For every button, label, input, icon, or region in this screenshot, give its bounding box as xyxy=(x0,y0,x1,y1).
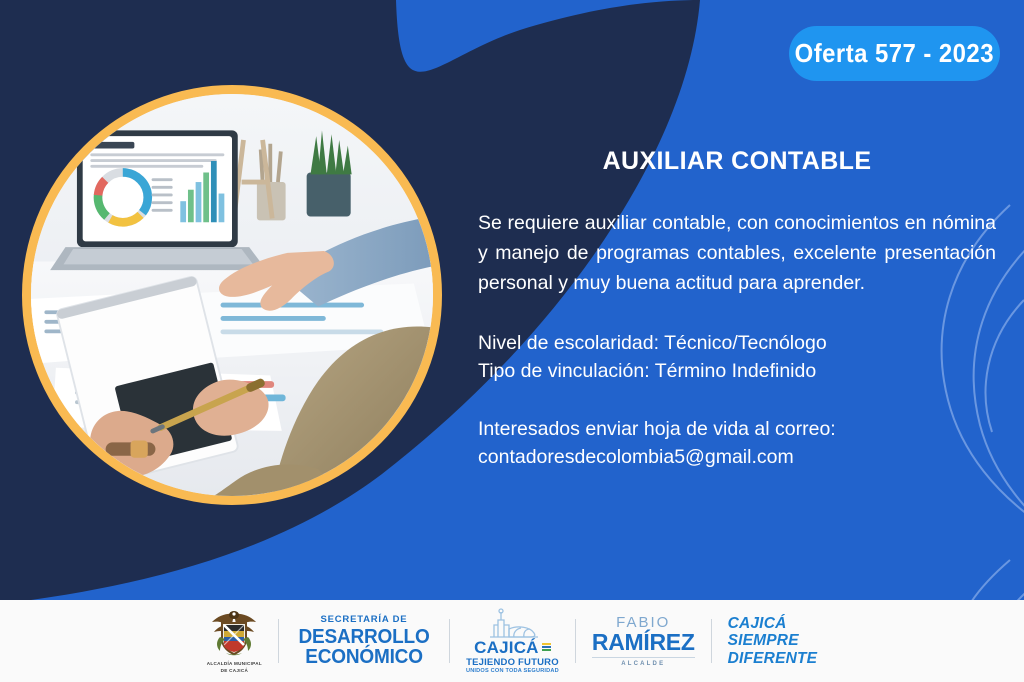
offer-badge-label: Oferta 577 - 2023 xyxy=(795,38,994,69)
municipal-crest-logo: ALCALDÍA MUNICIPAL DE CAJICÁ xyxy=(207,607,262,675)
slogan-line2: SIEMPRE xyxy=(728,632,818,649)
tejiendo-tagline: TEJIENDO FUTURO xyxy=(466,658,559,668)
footer-logo-bar: ALCALDÍA MUNICIPAL DE CAJICÁ SECRETARÍA … xyxy=(0,600,1024,682)
contact-instruction: Interesados enviar hoja de vida al corre… xyxy=(478,415,996,443)
slogan-line1: CAJICÁ xyxy=(728,615,818,632)
offer-content: AUXILIAR CONTABLE Se requiere auxiliar c… xyxy=(478,146,996,472)
crest-caption-line1: ALCALDÍA MUNICIPAL xyxy=(207,661,262,666)
cajica-church-icon xyxy=(480,607,544,639)
secretaria-line3: ECONÓMICO xyxy=(298,647,429,667)
secretaria-desarrollo-economico-logo: SECRETARÍA DE DESARROLLO ECONÓMICO xyxy=(295,615,433,668)
cajica-tejiendo-futuro-logo: CAJICÁ TEJIENDO FUTURO UNIDOS CON TODA S… xyxy=(466,607,559,675)
footer-divider xyxy=(449,619,450,663)
contact-email[interactable]: contadoresdecolombia5@gmail.com xyxy=(478,443,996,471)
job-offer-poster: Oferta 577 - 2023 xyxy=(0,0,1024,682)
slogan-line3: DIFERENTE xyxy=(728,650,818,667)
photo-circle xyxy=(22,85,442,505)
cajica-siempre-diferente-slogan: CAJICÁ SIEMPRE DIFERENTE xyxy=(728,615,818,666)
detail-contract-type: Tipo de vinculación: Término Indefinido xyxy=(478,357,996,385)
tejiendo-subtagline: UNIDOS CON TODA SEGURIDAD xyxy=(466,669,559,675)
page-title: AUXILIAR CONTABLE xyxy=(478,146,996,176)
coat-of-arms-icon xyxy=(208,607,260,659)
mayor-signature-logo: FABIO RAMÍREZ ALCALDE xyxy=(592,615,695,667)
secretaria-line1: SECRETARÍA DE xyxy=(295,615,433,625)
footer-divider xyxy=(278,619,279,663)
mayor-first-name: FABIO xyxy=(616,615,670,630)
secretaria-line2: DESARROLLO xyxy=(298,627,429,647)
footer-divider xyxy=(575,619,576,663)
mayor-last-name: RAMÍREZ xyxy=(592,631,695,654)
crest-caption-line2: DE CAJICÁ xyxy=(221,668,248,673)
detail-education-level: Nivel de escolaridad: Técnico/Tecnólogo xyxy=(478,329,996,357)
job-details: Nivel de escolaridad: Técnico/Tecnólogo … xyxy=(478,329,996,386)
mayor-role: ALCALDE xyxy=(592,657,695,667)
footer-divider xyxy=(711,619,712,663)
tejiendo-brand-name: CAJICÁ xyxy=(474,639,551,656)
offer-badge: Oferta 577 - 2023 xyxy=(789,26,1000,81)
office-meeting-photo xyxy=(31,94,433,496)
crest-caption: ALCALDÍA MUNICIPAL DE CAJICÁ xyxy=(207,661,262,675)
job-description: Se requiere auxiliar contable, con conoc… xyxy=(478,208,996,299)
contact-block: Interesados enviar hoja de vida al corre… xyxy=(478,415,996,472)
colombia-flag-bars-icon xyxy=(542,643,551,651)
